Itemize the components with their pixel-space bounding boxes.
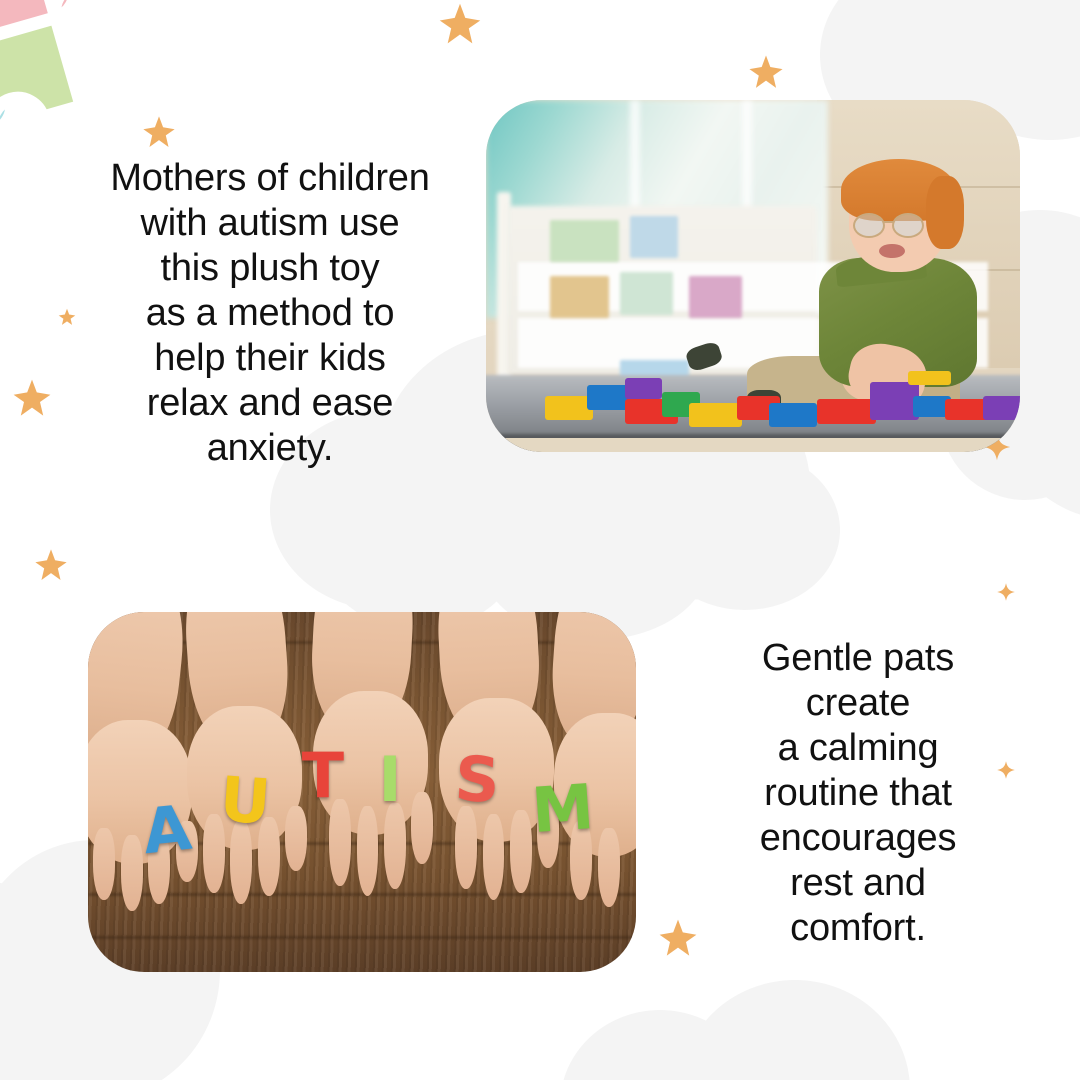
shelf-book (550, 220, 619, 262)
caption-line: this plush toy (60, 246, 480, 291)
boy-hair-side (926, 176, 964, 249)
poster-canvas: AUTISM Mothers of childrenwith autism us… (0, 0, 1080, 1080)
star-left-upper (12, 378, 52, 418)
toy-block (983, 396, 1020, 421)
caption-line: rest and (690, 861, 1026, 906)
hand-finger (411, 792, 433, 864)
hand-finger (93, 828, 115, 900)
caption-plush-toy: Mothers of childrenwith autism usethis p… (60, 156, 480, 471)
star-puzzle-center (142, 115, 176, 149)
caption-line: Mothers of children (60, 156, 480, 201)
hand-finger (455, 806, 477, 889)
caption-line: with autism use (60, 201, 480, 246)
plastic-letter-a: A (140, 797, 194, 864)
star-right-upper (996, 582, 1016, 602)
toy-block (689, 403, 742, 428)
star-top-right (748, 54, 784, 90)
puzzle-piece-green (0, 18, 81, 132)
caption-line: encourages (690, 816, 1026, 861)
plastic-letter-i: I (378, 749, 401, 811)
star-top-center (438, 2, 482, 46)
plastic-letter-s: S (454, 748, 502, 812)
shelf-book (630, 216, 678, 258)
hand-finger (285, 806, 307, 871)
hand-finger (598, 828, 620, 907)
caption-gentle-pats: Gentle patscreatea calmingroutine thaten… (690, 636, 1026, 951)
plastic-letter-t: T (302, 745, 344, 807)
caption-line: routine that (690, 771, 1026, 816)
caption-line: help their kids (60, 336, 480, 381)
wood-grain-line (88, 936, 636, 939)
shelf-book (620, 272, 673, 314)
caption-line: comfort. (690, 906, 1026, 951)
shelf-book (550, 276, 609, 318)
caption-line: a calming (690, 726, 1026, 771)
hand-finger (121, 835, 143, 911)
photo-boy-playing-with-blocks (486, 100, 1020, 452)
shelf-book (689, 276, 742, 318)
plastic-letter-u: U (217, 769, 272, 834)
caption-line: create (690, 681, 1026, 726)
toy-block (545, 396, 593, 421)
plastic-letter-m: M (530, 776, 596, 842)
puzzle-piece-blue (0, 36, 29, 195)
photo-hands-spelling-autism: AUTISM (88, 612, 636, 972)
toy-block (625, 378, 662, 399)
caption-line: relax and ease (60, 381, 480, 426)
wood-grain-line (88, 893, 636, 896)
caption-line: anxiety. (60, 426, 480, 471)
boy-mouth (879, 244, 905, 258)
puzzle-piece-orange (30, 0, 144, 18)
hand-finger (510, 810, 532, 893)
toy-block (908, 371, 951, 385)
boy-glasses-bridge (883, 221, 894, 223)
toy-block (870, 382, 918, 421)
toy-block (817, 399, 876, 424)
toy-block (769, 403, 817, 428)
cloud-shape-bottom-center (560, 980, 980, 1080)
caption-line: as a method to (60, 291, 480, 336)
star-left-lower (34, 548, 68, 582)
boy-glasses-left-lens (853, 213, 885, 238)
boy-glasses-right-lens (892, 213, 924, 238)
puzzle-piece-pink (0, 0, 92, 81)
caption-line: Gentle pats (690, 636, 1026, 681)
toy-block (587, 385, 630, 410)
